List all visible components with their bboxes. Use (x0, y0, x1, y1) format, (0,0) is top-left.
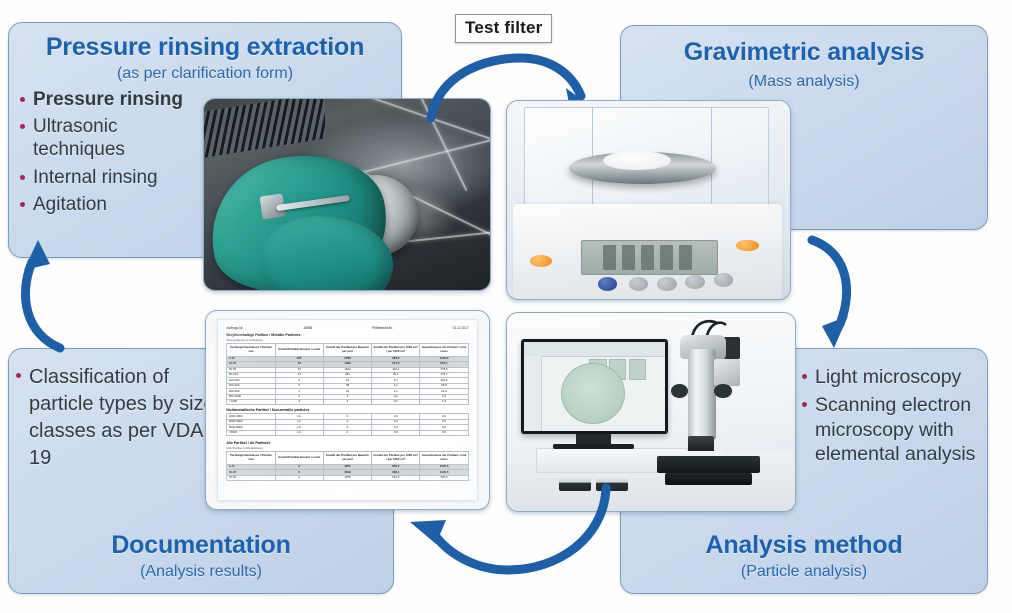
balance-display (581, 240, 719, 276)
report-sheet: Auftrags-Nr. 10035 Prüfbericht-Nr. 02.12… (217, 319, 477, 501)
report-section3-title: Alle Partikel / All Particles (226, 441, 468, 445)
column-header: Gesamtmasse der Partikel / total mass (420, 451, 468, 464)
table-cell: 0 (323, 430, 371, 435)
report-table-nonmetallic: 1000-3000n.b.00,00,03000-5000n.b.00,00,0… (226, 413, 468, 436)
microscope-base (665, 473, 751, 485)
report-table-metallic: Partikelgrößenklasse / Particle size Anz… (226, 343, 468, 405)
table-cell: n.b. (275, 430, 323, 435)
list-item: Agitation (18, 193, 198, 216)
column-header: Gesamtmasse der Partikel / total mass (420, 343, 468, 356)
filter-membrane (603, 151, 671, 171)
table-row: >1000440,11,9 (227, 399, 468, 404)
table-body-section2: 1000-3000n.b.00,00,03000-5000n.b.00,00,0… (227, 414, 468, 436)
column-header: Anzahl der Partikel pro 1000 cm² / per 1… (372, 343, 420, 356)
report-section3-subtitle: (Alle Partikel-Größenklassen) (226, 446, 468, 450)
table-cell: 393,9 (420, 475, 468, 480)
table-cell: 1,9 (420, 399, 468, 404)
pressure-rinsing-bullet-list: Pressure rinsing Ultrasonic techniques I… (18, 88, 198, 220)
monitor-base (553, 444, 634, 449)
gravimetric-analysis-subtitle: (Mass analysis) (620, 73, 988, 91)
analysis-method-bullet-list: Light microscopy Scanning electron micro… (800, 365, 1000, 471)
microscope-workstation-photo (506, 312, 796, 512)
report-order-label: Auftrags-Nr. (226, 326, 243, 330)
table-cell: 4 (275, 399, 323, 404)
column-header: Anzahl der Partikel pro Bauteil / per pa… (323, 451, 371, 464)
table-cell: 0 (275, 475, 323, 480)
report-order-value: 10035 (303, 326, 312, 330)
column-header: Anzahl Partikel absolut / count (275, 343, 323, 356)
analysis-method-subtitle: (Particle analysis) (620, 563, 988, 581)
documentation-bullet-list: Classification of particle types by size… (14, 364, 229, 476)
pressure-rinsing-title: Pressure rinsing extraction (8, 33, 402, 62)
test-filter-label: Test filter (455, 14, 552, 43)
filter-image-view (561, 363, 625, 424)
column-header: Anzahl der Partikel pro Bauteil / per pa… (323, 343, 371, 356)
list-item: Scanning electron microscopy with elemen… (800, 393, 1000, 466)
analysis-report-photo: Auftrags-Nr. 10035 Prüfbericht-Nr. 02.12… (205, 310, 490, 510)
report-number-label: Prüfbericht-Nr. (372, 326, 393, 330)
stage-controller (596, 475, 628, 491)
table-cell: 0,1 (372, 399, 420, 404)
analytical-balance-photo (506, 100, 791, 300)
table-row: >8000n.b.00,00,0 (227, 430, 468, 435)
gravimetric-analysis-title: Gravimetric analysis (620, 38, 988, 67)
report-header: Auftrags-Nr. 10035 Prüfbericht-Nr. 02.12… (226, 326, 468, 330)
pressure-rinsing-photo (203, 98, 491, 291)
analysis-method-title: Analysis method (620, 531, 988, 560)
process-cycle-diagram: Pressure rinsing extraction (as per clar… (0, 0, 1012, 613)
table-cell: 25-50 (227, 475, 275, 480)
column-header: Partikelgrößenklasse / Particle size (227, 343, 275, 356)
particle-thumbnail (629, 359, 646, 381)
report-date-value: 02.12.2017 (453, 326, 469, 330)
report-section1-subtitle: (Bezugsflaeche je Prüfobjekt) (226, 338, 468, 342)
software-sidebar (524, 356, 542, 431)
column-header: Anzahl Partikel absolut / count (275, 451, 323, 464)
table-cell: >8000 (227, 430, 275, 435)
illuminator-module (714, 359, 740, 387)
list-item: Light microscopy (800, 365, 1000, 389)
list-item: Internal rinsing (18, 166, 198, 189)
table-body-section3: 5-1504251650,21645,515-2502819328,11046,… (227, 464, 468, 480)
column-header: Partikelgrößenklasse / Particle size (227, 451, 275, 464)
list-item: Ultrasonic techniques (18, 115, 198, 161)
focus-knob (714, 384, 731, 398)
microscope-column (688, 349, 715, 440)
report-section2-title: Nichtmetallische Partikel / Non-metallic… (226, 408, 468, 412)
table-cell: 1150 (323, 475, 371, 480)
report-section1-title: Berylliumhaltige Partikel / Metallic Par… (226, 333, 468, 337)
list-item: Pressure rinsing (18, 88, 198, 111)
table-header-row: Partikelgrößenklasse / Particle size Anz… (227, 343, 468, 356)
table-cell: 0,0 (420, 430, 468, 435)
stage-controller (559, 475, 591, 491)
monitor-stand (576, 434, 611, 444)
computer-monitor (521, 339, 668, 434)
software-toolbar (524, 342, 665, 357)
arrow-gravimetric-to-analysis (790, 232, 870, 354)
table-cell: 151,3 (372, 475, 420, 480)
pressure-rinsing-subtitle: (as per clarification form) (8, 65, 402, 83)
table-cell: 4 (323, 399, 371, 404)
documentation-title: Documentation (8, 531, 394, 560)
table-row: 25-5001150151,3393,9 (227, 475, 468, 480)
table-cell: 0,0 (372, 430, 420, 435)
documentation-subtitle: (Analysis results) (8, 563, 394, 581)
list-item: Classification of particle types by size… (14, 364, 229, 472)
column-header: Anzahl der Partikel pro 1000 cm² / per 1… (372, 451, 420, 464)
microscope-stage (657, 456, 761, 474)
table-header-row: Partikelgrößenklasse / Particle size Anz… (227, 451, 468, 464)
table-cell: >1000 (227, 399, 275, 404)
table-body-section1: 5-151872786383,61003,815-25721462217,365… (227, 356, 468, 405)
monitor-screen (524, 342, 665, 431)
report-table-all: Partikelgrößenklasse / Particle size Anz… (226, 451, 468, 481)
balance-key (657, 277, 677, 291)
